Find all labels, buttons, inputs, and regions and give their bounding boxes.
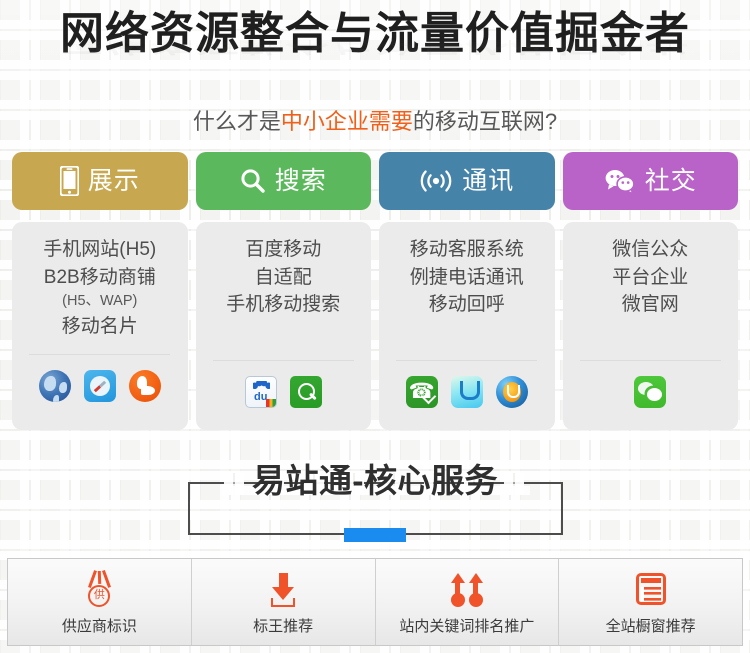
card-text-lines: 手机网站(H5) B2B移动商铺 (H5、WAP) 移动名片 bbox=[18, 236, 182, 341]
baidu-ribbon bbox=[266, 399, 276, 407]
card-line: 例捷电话通讯 bbox=[385, 264, 549, 292]
service-item-showcase[interactable]: 全站橱窗推荐 bbox=[559, 559, 742, 645]
card-app-icons: du bbox=[245, 375, 322, 409]
hero-section: 网络资源整合与流量价值掘金者 网络资源整合与流量价值掘金者 什么才是中小企业需要… bbox=[0, 0, 750, 136]
uc-browser-icon[interactable] bbox=[129, 370, 161, 402]
window-titlebar bbox=[641, 578, 661, 583]
service-item-label: 供应商标识 bbox=[62, 615, 137, 636]
card-body-communication: 移动客服系统 例捷电话通讯 移动回呼 bbox=[379, 222, 555, 430]
card-header-social[interactable]: 社交 bbox=[563, 152, 739, 210]
card-line: 移动回呼 bbox=[385, 291, 549, 319]
card-divider bbox=[396, 360, 537, 361]
window-list-rows bbox=[641, 587, 661, 601]
core-service-banner: 易站通-核心服务 bbox=[0, 455, 750, 550]
card-header-label: 社交 bbox=[645, 169, 697, 194]
hero-subtitle-highlight: 中小企业需要 bbox=[281, 109, 413, 134]
card-app-icons bbox=[406, 375, 528, 409]
green-search-app-icon[interactable] bbox=[290, 376, 322, 408]
card-line: B2B移动商铺 bbox=[18, 264, 182, 292]
card-header-search[interactable]: 搜索 bbox=[196, 152, 372, 210]
card-header-label: 通讯 bbox=[462, 169, 514, 194]
card-header-communication[interactable]: 通讯 bbox=[379, 152, 555, 210]
service-item-top-listing[interactable]: 标王推荐 bbox=[192, 559, 376, 645]
service-item-label: 站内关键词排名推广 bbox=[399, 615, 534, 636]
baidu-app-icon[interactable]: du bbox=[245, 376, 277, 408]
category-cards: 展示 手机网站(H5) B2B移动商铺 (H5、WAP) 移动名片 bbox=[12, 152, 738, 430]
mobile-phone-icon bbox=[60, 166, 79, 196]
card-line: 微官网 bbox=[569, 291, 733, 319]
card-body-social: 微信公众 平台企业 微官网 bbox=[563, 222, 739, 430]
hero-subtitle-prefix: 什么才是 bbox=[193, 109, 281, 134]
hero-subtitle: 什么才是中小企业需要的移动互联网? bbox=[0, 104, 750, 136]
card-line: 微信公众 bbox=[569, 236, 733, 264]
card-line: 百度移动 bbox=[202, 236, 366, 264]
card-divider bbox=[29, 354, 170, 355]
page-title-reflection: 网络资源整合与流量价值掘金者 bbox=[0, 38, 750, 57]
service-item-keyword-ranking[interactable]: 站内关键词排名推广 bbox=[376, 559, 560, 645]
promo-page: 网络资源整合与流量价值掘金者 网络资源整合与流量价值掘金者 什么才是中小企业需要… bbox=[0, 0, 750, 653]
card-body-search: 百度移动 自适配 手机移动搜索 du bbox=[196, 222, 372, 430]
ie-globe-browser-icon[interactable] bbox=[39, 370, 71, 402]
category-card-communication[interactable]: 通讯 移动客服系统 例捷电话通讯 移动回呼 bbox=[379, 152, 555, 430]
card-line: 移动客服系统 bbox=[385, 236, 549, 264]
u-cyan-app-icon[interactable] bbox=[451, 376, 483, 408]
arrow-tray bbox=[271, 598, 295, 607]
card-line: 自适配 bbox=[202, 264, 366, 292]
download-arrow-icon bbox=[262, 569, 304, 611]
card-app-icons bbox=[39, 369, 161, 403]
card-divider bbox=[213, 360, 354, 361]
broadcast-signal-icon bbox=[419, 169, 453, 193]
card-header-display[interactable]: 展示 bbox=[12, 152, 188, 210]
card-header-label: 搜索 bbox=[275, 169, 327, 194]
banner-title: 易站通-核心服务 bbox=[0, 455, 750, 507]
showcase-window-icon bbox=[630, 569, 672, 611]
card-line: 平台企业 bbox=[569, 264, 733, 292]
service-item-label: 标王推荐 bbox=[253, 615, 313, 636]
service-item-supplier-badge[interactable]: 供 供应商标识 bbox=[8, 559, 192, 645]
service-highlights-bar: 供 供应商标识 标王推荐 bbox=[7, 558, 743, 646]
supplier-medal-icon: 供 bbox=[78, 569, 120, 611]
service-item-label: 全站橱窗推荐 bbox=[606, 615, 696, 636]
category-card-display[interactable]: 展示 手机网站(H5) B2B移动商铺 (H5、WAP) 移动名片 bbox=[12, 152, 188, 430]
medal-ribbon-right bbox=[102, 570, 111, 588]
banner-accent-bar bbox=[344, 528, 406, 542]
safari-browser-icon[interactable] bbox=[84, 370, 116, 402]
double-up-arrow-icon bbox=[446, 569, 488, 611]
hero-subtitle-suffix: 的移动互联网? bbox=[413, 109, 557, 134]
card-text-lines: 微信公众 平台企业 微官网 bbox=[569, 236, 733, 319]
up-arrow-right bbox=[468, 573, 484, 607]
arrow-bulb bbox=[469, 593, 483, 607]
category-card-search[interactable]: 搜索 百度移动 自适配 手机移动搜索 du bbox=[196, 152, 372, 430]
up-arrow-left bbox=[450, 573, 466, 607]
card-body-display: 手机网站(H5) B2B移动商铺 (H5、WAP) 移动名片 bbox=[12, 222, 188, 430]
card-app-icons bbox=[634, 375, 666, 409]
medal-ring-label: 供 bbox=[88, 585, 110, 607]
arrow-bulb bbox=[451, 593, 465, 607]
wechat-bubbles-icon bbox=[604, 168, 636, 194]
card-text-lines: 移动客服系统 例捷电话通讯 移动回呼 bbox=[385, 236, 549, 319]
u-globe-app-icon[interactable] bbox=[496, 376, 528, 408]
card-line: (H5、WAP) bbox=[18, 291, 182, 313]
card-line: 手机网站(H5) bbox=[18, 236, 182, 264]
card-line: 移动名片 bbox=[18, 313, 182, 341]
category-card-social[interactable]: 社交 微信公众 平台企业 微官网 bbox=[563, 152, 739, 430]
card-divider bbox=[580, 360, 721, 361]
callback-phone-icon[interactable] bbox=[406, 376, 438, 408]
search-icon bbox=[240, 168, 266, 194]
card-header-label: 展示 bbox=[88, 169, 140, 194]
card-text-lines: 百度移动 自适配 手机移动搜索 bbox=[202, 236, 366, 319]
card-line: 手机移动搜索 bbox=[202, 291, 366, 319]
medal-ribbon-middle bbox=[98, 570, 101, 583]
wechat-app-icon[interactable] bbox=[634, 376, 666, 408]
